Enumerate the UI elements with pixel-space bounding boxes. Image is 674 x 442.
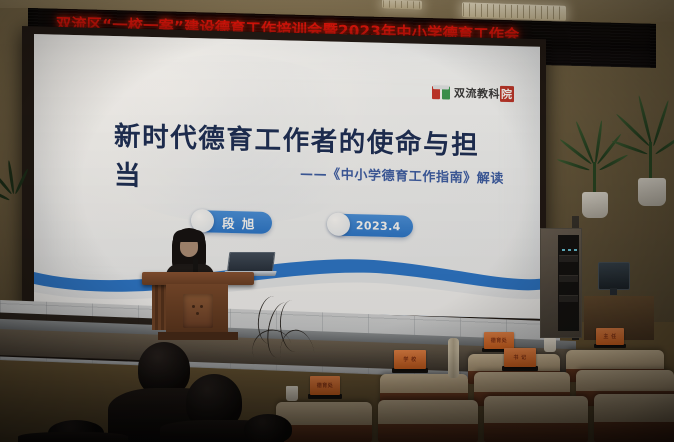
seat <box>378 400 478 442</box>
presenter-hair-front <box>173 230 205 242</box>
logo-text-block: 双流教科院 <box>454 85 514 103</box>
logo-text: 双流教科 <box>454 87 500 101</box>
name-card-text: 德育处 <box>317 382 334 389</box>
podium-base <box>158 332 238 340</box>
audience-seating: 德育处 主 任 学 校 书 记 <box>0 332 674 442</box>
water-cup <box>286 386 298 401</box>
audience-head <box>244 414 292 442</box>
audience-shoulders <box>18 432 128 442</box>
seat <box>484 396 588 442</box>
book-icon <box>432 85 450 100</box>
name-card: 学 校 <box>394 350 426 369</box>
institute-logo: 双流教科院 <box>432 84 514 102</box>
name-card: 书 记 <box>504 348 536 367</box>
name-card: 主 任 <box>596 328 624 345</box>
name-card-text: 主 任 <box>603 333 616 340</box>
badge-dot <box>327 212 350 236</box>
control-monitor <box>598 262 630 290</box>
name-card-text: 德育处 <box>491 337 508 344</box>
slide-title: 新时代德育工作者的使命与担当 <box>114 114 484 201</box>
date-badge: 2023.4 <box>332 214 413 238</box>
monitor-stand <box>610 288 617 295</box>
name-card: 德育处 <box>310 376 340 395</box>
rack-status-led <box>562 249 565 251</box>
conference-room-photo: 双流区“一校一案”建设德育工作培训会暨2023年中小学德育工作会 双流教科院 新… <box>0 0 674 442</box>
podium-panel <box>183 294 213 328</box>
seat <box>594 394 674 442</box>
rack-status-led <box>574 249 577 251</box>
ceiling-light-panel <box>382 0 422 10</box>
name-card-text: 学 校 <box>403 356 416 363</box>
plant-pot <box>582 192 608 218</box>
slide-badges: 段 旭 2023.4 <box>196 210 413 237</box>
plant-pot <box>638 178 666 206</box>
rack-status-led <box>568 249 571 251</box>
thermos <box>448 338 459 378</box>
podium <box>150 272 246 340</box>
water-cup <box>544 338 556 352</box>
logo-seal-char: 院 <box>500 86 514 102</box>
av-equipment-rack <box>540 228 582 338</box>
presentation-slide: 双流教科院 新时代德育工作者的使命与担当 ——《中小学德育工作指南》解读 段 旭… <box>34 34 540 319</box>
name-card-text: 书 记 <box>513 354 526 361</box>
name-card: 德育处 <box>484 332 514 349</box>
